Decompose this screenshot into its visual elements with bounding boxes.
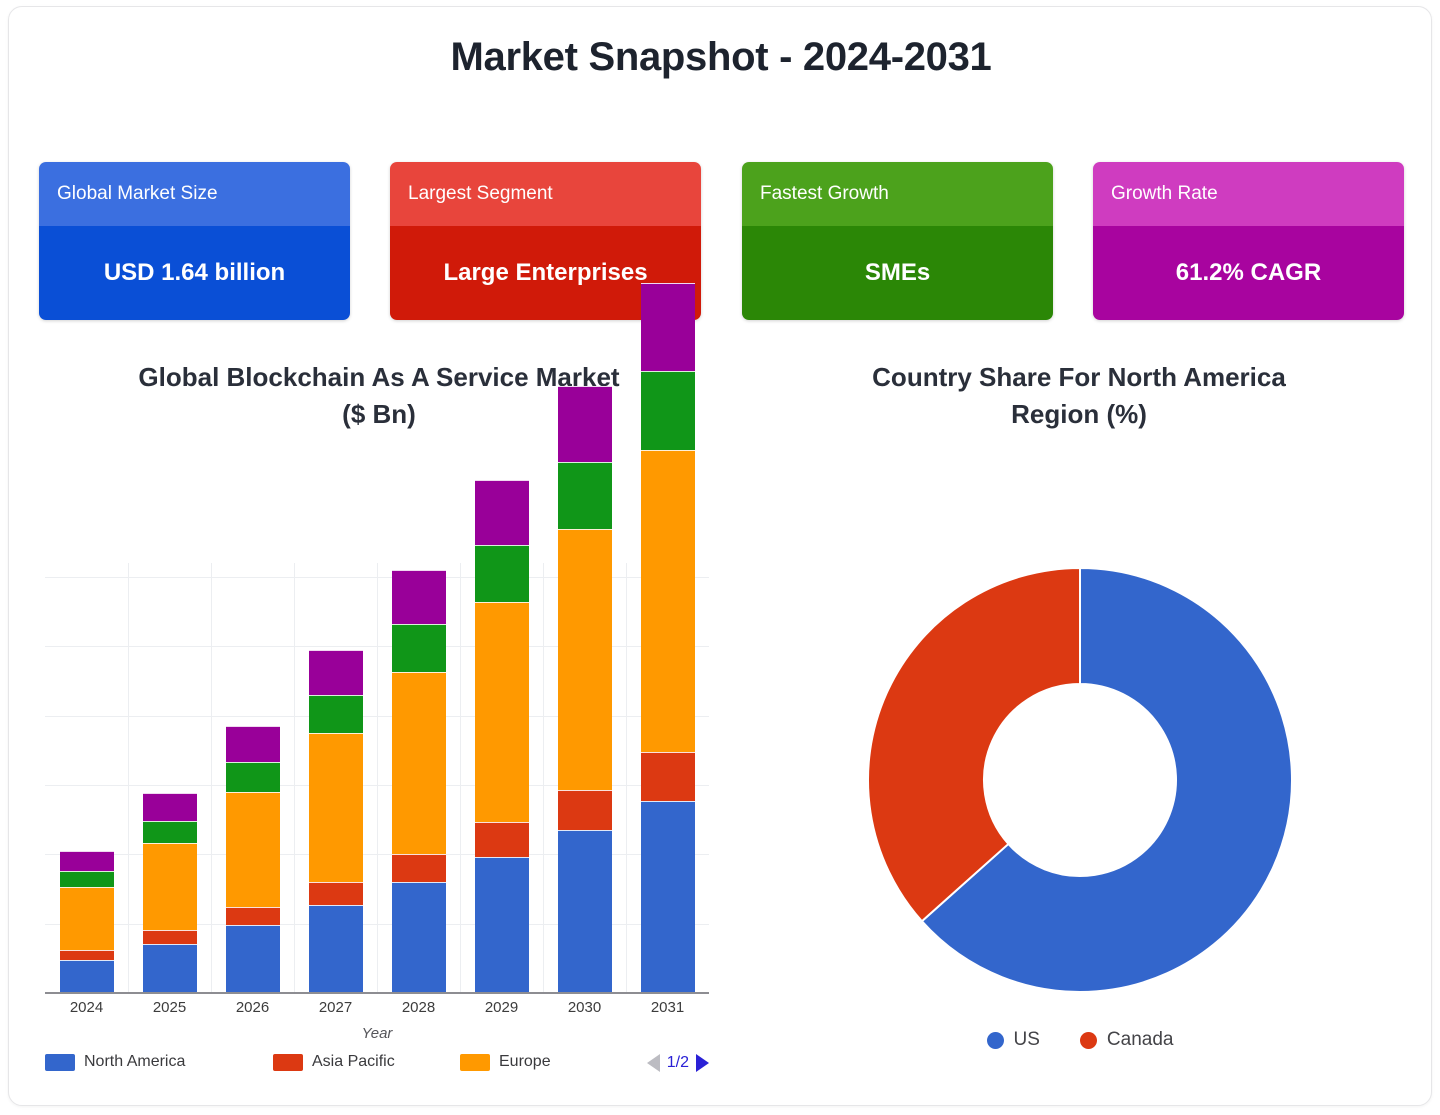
bar-segment[interactable] — [558, 462, 612, 529]
bar-stack[interactable] — [558, 386, 612, 992]
bar-segment[interactable] — [392, 854, 446, 882]
bar-stack[interactable] — [641, 283, 695, 992]
kpi-label: Growth Rate — [1093, 162, 1404, 226]
bar-segment[interactable] — [309, 733, 363, 881]
legend-dot-icon — [987, 1032, 1004, 1049]
pager-next-icon[interactable] — [696, 1054, 709, 1072]
page-title: Market Snapshot - 2024-2031 — [9, 35, 1432, 80]
x-axis-tick: 2028 — [374, 999, 464, 1016]
bar-chart-title: Global Blockchain As A Service Market ($… — [29, 359, 729, 433]
vertical-gridline — [211, 563, 212, 993]
legend-item-canada[interactable]: Canada — [1080, 1029, 1174, 1051]
vertical-gridline — [294, 563, 295, 993]
bar-segment[interactable] — [475, 602, 529, 823]
legend-swatch-icon — [45, 1054, 75, 1071]
kpi-label: Global Market Size — [39, 162, 350, 226]
bar-segment[interactable] — [226, 792, 280, 908]
legend-label: US — [1014, 1029, 1040, 1051]
bar-segment[interactable] — [226, 907, 280, 925]
legend-label: Canada — [1107, 1029, 1174, 1051]
donut-chart[interactable] — [865, 565, 1295, 995]
bar-stack[interactable] — [226, 726, 280, 992]
x-axis-tick: 2031 — [623, 999, 713, 1016]
x-axis-tick: 2027 — [291, 999, 381, 1016]
kpi-label: Fastest Growth — [742, 162, 1053, 226]
bar-chart-legend[interactable]: North AmericaAsia PacificEurope 1/2 — [45, 1053, 709, 1083]
bar-chart-title-line2: ($ Bn) — [29, 396, 729, 433]
vertical-gridline — [543, 563, 544, 993]
kpi-value: SMEs — [742, 226, 1053, 320]
bar-segment[interactable] — [60, 960, 114, 992]
bar-segment[interactable] — [60, 851, 114, 871]
kpi-card-growth-rate[interactable]: Growth Rate 61.2% CAGR — [1093, 162, 1404, 320]
bar-segment[interactable] — [226, 925, 280, 992]
bar-segment[interactable] — [143, 821, 197, 843]
bar-stack[interactable] — [143, 793, 197, 992]
bar-segment[interactable] — [143, 793, 197, 821]
bar-segment[interactable] — [641, 371, 695, 449]
bar-segment[interactable] — [392, 624, 446, 671]
bar-segment[interactable] — [392, 570, 446, 625]
donut-chart-svg — [865, 565, 1295, 995]
bar-segment[interactable] — [309, 695, 363, 733]
donut-slice-canada[interactable] — [868, 568, 1080, 921]
bar-legend-item[interactable]: Europe — [460, 1053, 551, 1071]
bar-segment[interactable] — [475, 857, 529, 992]
bar-segment[interactable] — [60, 887, 114, 949]
x-axis-tick: 2026 — [208, 999, 298, 1016]
bar-segment[interactable] — [558, 790, 612, 831]
x-axis-tick: 2024 — [42, 999, 132, 1016]
bar-segment[interactable] — [143, 944, 197, 992]
kpi-value: USD 1.64 billion — [39, 226, 350, 320]
vertical-gridline — [460, 563, 461, 993]
pager-label: 1/2 — [667, 1054, 689, 1072]
legend-label: North America — [84, 1053, 185, 1071]
pager-prev-icon[interactable] — [647, 1054, 660, 1072]
bar-chart-plot-area — [45, 563, 709, 993]
bar-segment[interactable] — [60, 950, 114, 960]
bar-segment[interactable] — [641, 283, 695, 371]
bar-segment[interactable] — [475, 822, 529, 857]
kpi-value: 61.2% CAGR — [1093, 226, 1404, 320]
pie-chart-title: Country Share For North America Region (… — [769, 359, 1389, 433]
x-axis-tick: 2025 — [125, 999, 215, 1016]
bar-segment[interactable] — [558, 529, 612, 789]
vertical-gridline — [377, 563, 378, 993]
bar-stack[interactable] — [309, 650, 363, 992]
pie-chart-title-line1: Country Share For North America — [769, 359, 1389, 396]
legend-swatch-icon — [273, 1054, 303, 1071]
kpi-card-global-market-size[interactable]: Global Market Size USD 1.64 billion — [39, 162, 350, 320]
bar-segment[interactable] — [558, 386, 612, 462]
bar-legend-item[interactable]: North America — [45, 1053, 185, 1071]
kpi-label: Largest Segment — [390, 162, 701, 226]
legend-pager[interactable]: 1/2 — [647, 1054, 709, 1072]
bar-segment[interactable] — [309, 905, 363, 992]
kpi-card-fastest-growth[interactable]: Fastest Growth SMEs — [742, 162, 1053, 320]
legend-label: Asia Pacific — [312, 1053, 395, 1071]
bar-segment[interactable] — [475, 480, 529, 545]
bar-segment[interactable] — [392, 882, 446, 992]
bar-segment[interactable] — [309, 882, 363, 905]
bar-segment[interactable] — [475, 545, 529, 602]
bar-segment[interactable] — [60, 871, 114, 887]
legend-label: Europe — [499, 1053, 551, 1071]
bar-segment[interactable] — [226, 762, 280, 792]
x-axis-tick: 2029 — [457, 999, 547, 1016]
bar-chart-title-line1: Global Blockchain As A Service Market — [29, 359, 729, 396]
donut-chart-legend[interactable]: US Canada — [865, 1023, 1295, 1057]
kpi-card-row: Global Market Size USD 1.64 billion Larg… — [39, 162, 1404, 322]
vertical-gridline — [626, 563, 627, 993]
bar-segment[interactable] — [143, 843, 197, 930]
dashboard-card: Market Snapshot - 2024-2031 Global Marke… — [8, 6, 1432, 1106]
bar-segment[interactable] — [309, 650, 363, 695]
dashboard-root: Market Snapshot - 2024-2031 Global Marke… — [0, 0, 1440, 1115]
bar-segment[interactable] — [641, 450, 695, 752]
bar-segment[interactable] — [641, 752, 695, 801]
bar-segment[interactable] — [143, 930, 197, 944]
bar-legend-item[interactable]: Asia Pacific — [273, 1053, 395, 1071]
bar-stack[interactable] — [60, 851, 114, 992]
bar-segment[interactable] — [392, 672, 446, 854]
legend-item-us[interactable]: US — [987, 1029, 1040, 1051]
bar-stack[interactable] — [475, 480, 529, 993]
bar-segment[interactable] — [226, 726, 280, 762]
pie-chart-title-line2: Region (%) — [769, 396, 1389, 433]
x-axis-title: Year — [45, 1025, 709, 1042]
bar-segment[interactable] — [641, 801, 695, 992]
vertical-gridline — [128, 563, 129, 993]
legend-swatch-icon — [460, 1054, 490, 1071]
x-axis-line — [45, 992, 709, 994]
stacked-bar-chart[interactable]: 20242025202620272028202920302031 — [45, 563, 709, 995]
legend-dot-icon — [1080, 1032, 1097, 1049]
bar-segment[interactable] — [558, 830, 612, 992]
x-axis-tick: 2030 — [540, 999, 630, 1016]
bar-stack[interactable] — [392, 570, 446, 992]
